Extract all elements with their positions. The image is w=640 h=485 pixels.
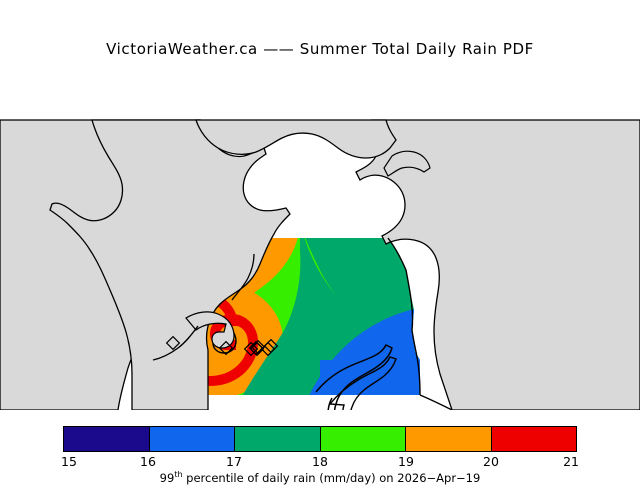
colorbar-tick-21: 21: [563, 454, 579, 469]
colorbar-segment-16-17[interactable]: [150, 427, 236, 451]
caption-value: 99: [160, 471, 175, 485]
colorbar-caption: 99th percentile of daily rain (mm/day) o…: [0, 470, 640, 485]
weather-map-page: VictoriaWeather.ca —— Summer Total Daily…: [0, 0, 640, 480]
colorbar-segment-17-18[interactable]: [235, 427, 321, 451]
colorbar-tick-17: 17: [226, 454, 242, 469]
colorbar-tick-19: 19: [398, 454, 414, 469]
colorbar-segment-15-16[interactable]: [64, 427, 150, 451]
colorbar-tick-15: 15: [61, 454, 77, 469]
caption-ordinal-suffix: th: [174, 470, 182, 479]
colorbar-segment-19-20[interactable]: [406, 427, 492, 451]
rainfall-contour-map[interactable]: [0, 60, 640, 410]
colorbar-tick-18: 18: [312, 454, 328, 469]
colorbar-segment-18-19[interactable]: [321, 427, 407, 451]
colorbar-tick-20: 20: [483, 454, 499, 469]
map-panel[interactable]: [0, 60, 640, 410]
colorbar-segment-20-21[interactable]: [492, 427, 577, 451]
colorbar[interactable]: [63, 426, 577, 452]
colorbar-panel: 15 16 17 18 19 20 21 99th percentile of …: [0, 418, 640, 480]
page-title: VictoriaWeather.ca —— Summer Total Daily…: [0, 40, 640, 58]
caption-text: percentile of daily rain (mm/day) on 202…: [183, 471, 481, 485]
colorbar-tick-16: 16: [140, 454, 156, 469]
